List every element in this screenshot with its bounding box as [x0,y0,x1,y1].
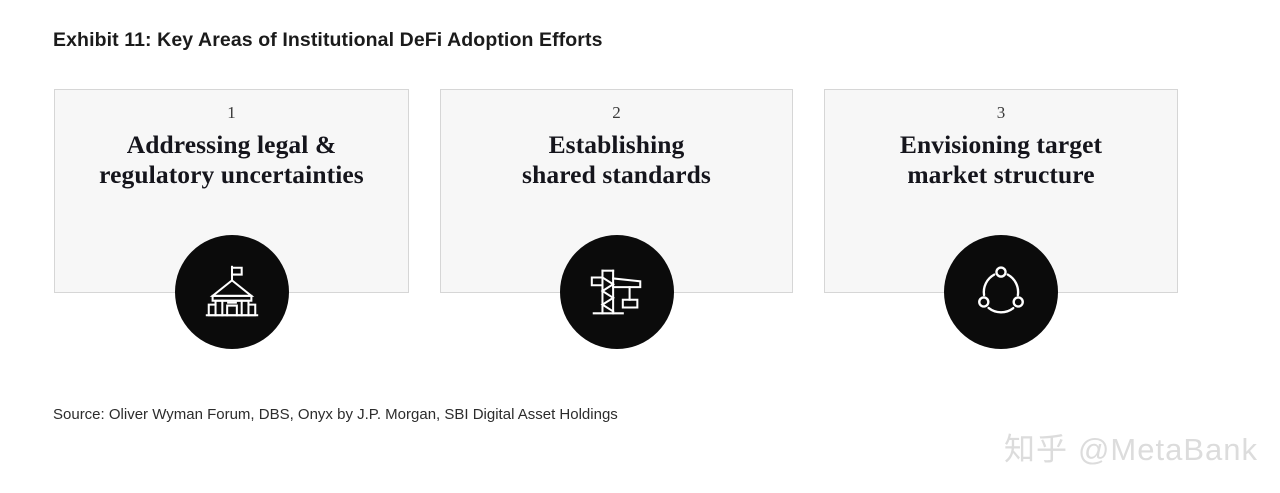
cards-row: 1 Addressing legal & regulatory uncertai… [54,89,1178,293]
watermark-site: 知乎 [1004,432,1068,467]
tower-crane-icon [586,261,648,323]
card-heading-line-2: market structure [900,160,1102,190]
card-establishing-shared-standards[interactable]: 2 Establishing shared standards [440,89,793,293]
watermark: 知乎@MetaBank [1004,424,1258,469]
card-heading-line-2: shared standards [522,160,711,190]
courthouse-icon [201,261,263,323]
icon-circle [560,235,674,349]
page-title: Exhibit 11: Key Areas of Institutional D… [53,29,603,52]
card-heading: Addressing legal & regulatory uncertaint… [91,130,372,190]
card-envisioning-target-market-structure[interactable]: 3 Envisioning target market structure [824,89,1178,293]
card-number: 1 [227,104,236,123]
card-heading-line-1: Establishing [522,130,711,160]
card-number: 3 [997,104,1006,123]
card-heading-line-1: Addressing legal & [99,130,364,160]
card-addressing-legal-regulatory-uncertainties[interactable]: 1 Addressing legal & regulatory uncertai… [54,89,409,293]
icon-circle [175,235,289,349]
watermark-handle: @MetaBank [1078,432,1258,467]
card-number: 2 [612,104,621,123]
card-heading: Establishing shared standards [514,130,719,190]
card-heading: Envisioning target market structure [892,130,1110,190]
exhibit-page: { "title": "Exhibit 11: Key Areas of Ins… [0,0,1280,493]
icon-circle [944,235,1058,349]
card-heading-line-2: regulatory uncertainties [99,160,364,190]
source-note: Source: Oliver Wyman Forum, DBS, Onyx by… [53,406,618,423]
network-nodes-icon [972,263,1030,321]
card-heading-line-1: Envisioning target [900,130,1102,160]
